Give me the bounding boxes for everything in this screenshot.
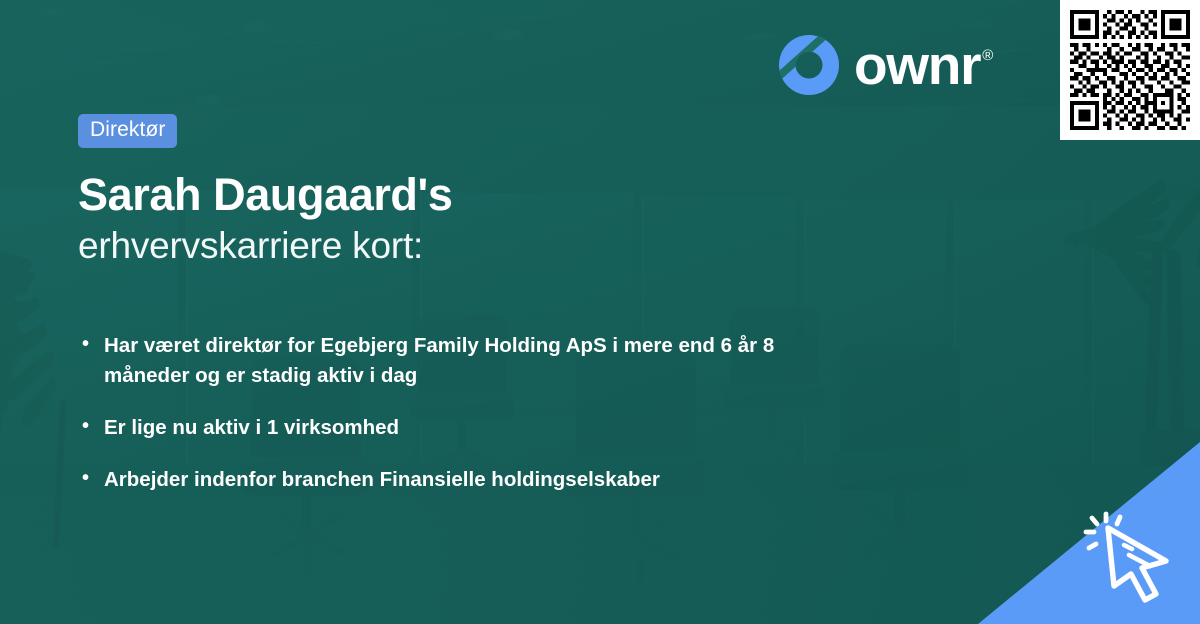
list-item: Er lige nu aktiv i 1 virksomhed	[78, 413, 838, 443]
career-facts-list: Har været direktør for Egebjerg Family H…	[78, 331, 918, 496]
page-title: Sarah Daugaard's erhvervskarriere kort:	[78, 170, 918, 268]
registered-trademark-icon: ®	[982, 48, 993, 63]
qr-code	[1070, 10, 1190, 130]
list-item: Har været direktør for Egebjerg Family H…	[78, 331, 838, 391]
ownr-wordmark: ownr	[854, 39, 980, 92]
qr-code-panel[interactable]	[1060, 0, 1200, 140]
headline-line-1: Sarah Daugaard's	[78, 170, 918, 221]
ownr-circle-slash-logo	[778, 34, 840, 96]
click-cursor-icon	[1082, 508, 1186, 612]
career-card: ownr ®	[0, 0, 1200, 624]
headline-line-2: erhvervskarriere kort:	[78, 223, 918, 268]
list-item: Arbejder indenfor branchen Finansielle h…	[78, 465, 838, 495]
role-badge: Direktør	[78, 114, 177, 148]
card-content: Direktør Sarah Daugaard's erhvervskarrie…	[78, 114, 918, 495]
ownr-logo[interactable]: ownr ®	[778, 34, 993, 96]
